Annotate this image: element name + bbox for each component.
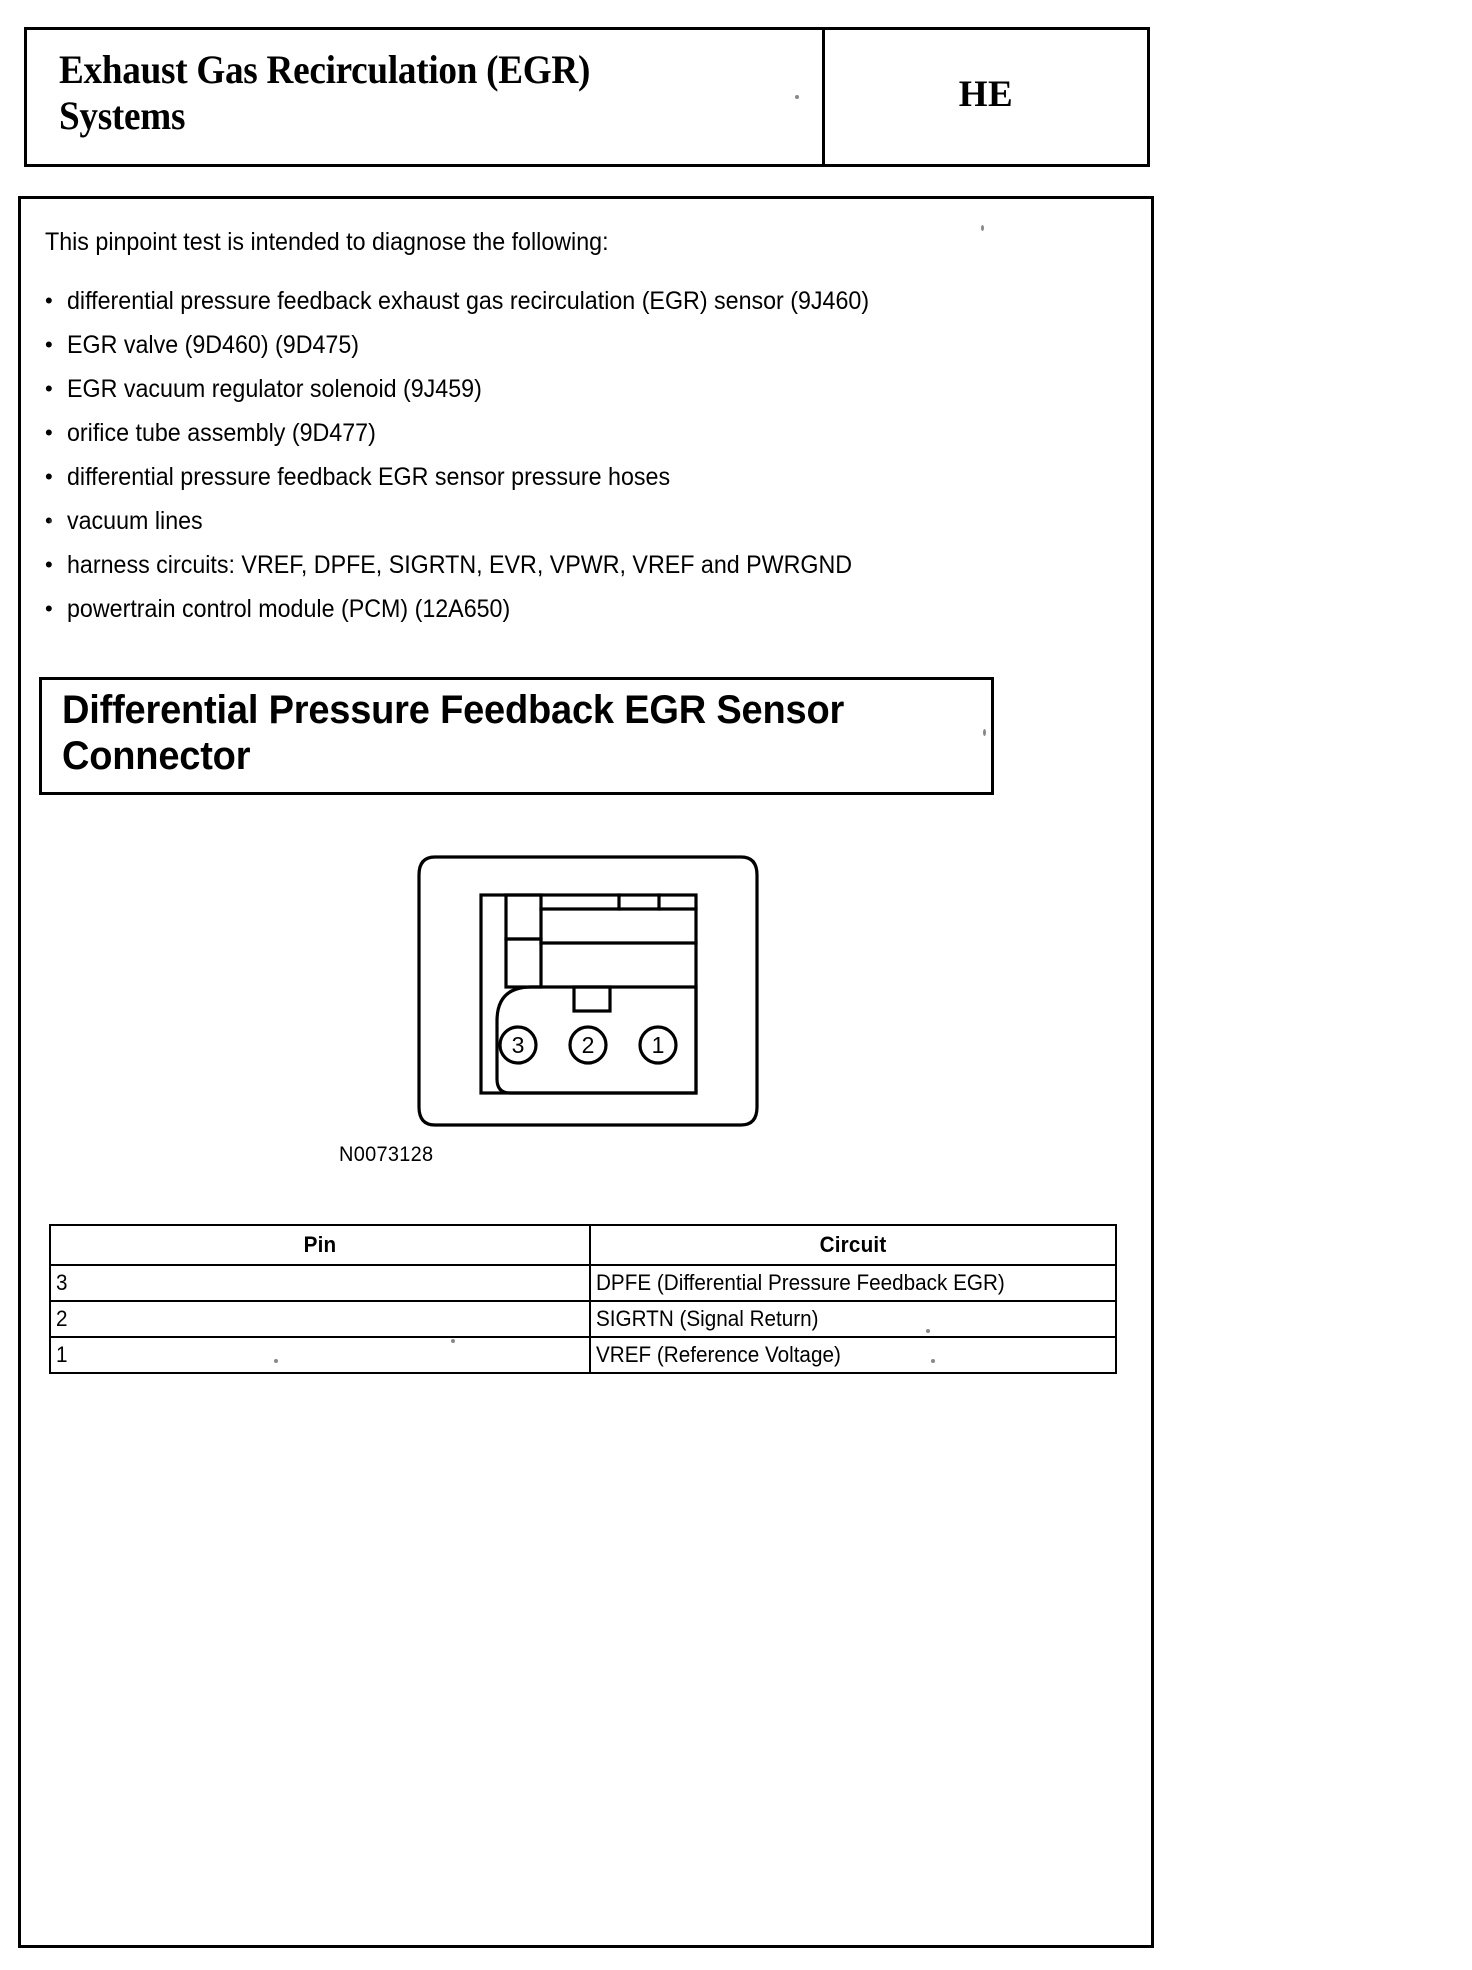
bullet-dot-icon: •: [45, 455, 67, 499]
list-item-label: powertrain control module (PCM) (12A650): [67, 587, 1051, 631]
connector-terminal-cavity: [497, 987, 696, 1093]
connector-illustration: 3 2 1: [413, 849, 763, 1139]
scan-speckle: [926, 1329, 930, 1333]
list-item-label: EGR vacuum regulator solenoid (9J459): [67, 367, 1051, 411]
list-item: • EGR vacuum regulator solenoid (9J459): [45, 367, 1125, 411]
bullet-dot-icon: •: [45, 411, 67, 455]
list-item: • powertrain control module (PCM) (12A65…: [45, 587, 1125, 631]
list-item-label: differential pressure feedback exhaust g…: [67, 279, 1051, 323]
cell-pin: 1: [50, 1337, 590, 1373]
section-heading: Differential Pressure Feedback EGR Senso…: [62, 688, 945, 779]
content-frame: This pinpoint test is intended to diagno…: [18, 196, 1154, 1948]
cell-pin-value: 1: [56, 1342, 557, 1368]
figure-part-number: N0073128: [339, 1143, 433, 1167]
scan-speckle: [795, 95, 799, 99]
cell-circuit: DPFE (Differential Pressure Feedback EGR…: [590, 1265, 1116, 1301]
intro-paragraph: This pinpoint test is intended to diagno…: [45, 227, 609, 257]
scan-speckle: [451, 1339, 455, 1343]
list-item-label: differential pressure feedback EGR senso…: [67, 455, 1051, 499]
table-header-row: Pin Circuit: [50, 1225, 1116, 1265]
bullet-dot-icon: •: [45, 543, 67, 587]
bullet-dot-icon: •: [45, 323, 67, 367]
list-item: • differential pressure feedback EGR sen…: [45, 455, 1125, 499]
list-item: • EGR valve (9D460) (9D475): [45, 323, 1125, 367]
pin-number-3: 3: [512, 1032, 525, 1058]
bullet-dot-icon: •: [45, 279, 67, 323]
column-header-pin: Pin: [50, 1225, 590, 1265]
cell-circuit-value: SIGRTN (Signal Return): [596, 1306, 1084, 1332]
bullet-dot-icon: •: [45, 587, 67, 631]
list-item-label: orifice tube assembly (9D477): [67, 411, 1051, 455]
manual-page: Exhaust Gas Recirculation (EGR) Systems …: [0, 0, 1472, 1970]
connector-latch-upper: [506, 895, 541, 939]
table-row: 1 VREF (Reference Voltage): [50, 1337, 1116, 1373]
section-heading-box: Differential Pressure Feedback EGR Senso…: [39, 677, 994, 795]
connector-key-tab: [574, 987, 610, 1011]
pin-number-2: 2: [582, 1032, 595, 1058]
list-item: • vacuum lines: [45, 499, 1125, 543]
column-header-circuit: Circuit: [590, 1225, 1116, 1265]
scan-speckle: [49, 519, 52, 523]
column-header-circuit-label: Circuit: [607, 1232, 1100, 1258]
cell-circuit: VREF (Reference Voltage): [590, 1337, 1116, 1373]
scan-speckle: [931, 1359, 935, 1363]
pin-circuit-table: Pin Circuit 3 DPFE (Differential Pressur…: [49, 1224, 1117, 1374]
connector-outer-shell: [419, 857, 757, 1125]
list-item: • orifice tube assembly (9D477): [45, 411, 1125, 455]
connector-diagram: 3 2 1 N0073128: [21, 849, 1151, 1179]
scan-speckle: [983, 729, 986, 736]
cell-pin-value: 2: [56, 1306, 557, 1332]
diagnose-bullet-list: • differential pressure feedback exhaust…: [45, 279, 1125, 631]
list-item: • differential pressure feedback exhaust…: [45, 279, 1125, 323]
page-header: Exhaust Gas Recirculation (EGR) Systems …: [24, 27, 1150, 167]
scan-speckle: [981, 225, 984, 231]
connector-latch-lower: [506, 939, 541, 987]
cell-pin-value: 3: [56, 1270, 557, 1296]
cell-pin: 3: [50, 1265, 590, 1301]
cell-pin: 2: [50, 1301, 590, 1337]
header-code-cell: HE: [825, 30, 1147, 164]
header-title-cell: Exhaust Gas Recirculation (EGR) Systems: [27, 30, 822, 164]
scan-speckle: [274, 1359, 278, 1363]
table-row: 3 DPFE (Differential Pressure Feedback E…: [50, 1265, 1116, 1301]
bullet-dot-icon: •: [45, 367, 67, 411]
list-item-label: EGR valve (9D460) (9D475): [67, 323, 1051, 367]
column-header-pin-label: Pin: [67, 1232, 573, 1258]
table-row: 2 SIGRTN (Signal Return): [50, 1301, 1116, 1337]
list-item-label: harness circuits: VREF, DPFE, SIGRTN, EV…: [67, 543, 1051, 587]
list-item: • harness circuits: VREF, DPFE, SIGRTN, …: [45, 543, 1125, 587]
list-item-label: vacuum lines: [67, 499, 1051, 543]
pin-number-1: 1: [652, 1032, 665, 1058]
cell-circuit-value: DPFE (Differential Pressure Feedback EGR…: [596, 1270, 1084, 1296]
cell-circuit: SIGRTN (Signal Return): [590, 1301, 1116, 1337]
cell-circuit-value: VREF (Reference Voltage): [596, 1342, 1084, 1368]
section-code-badge: HE: [959, 73, 1013, 116]
page-title: Exhaust Gas Recirculation (EGR) Systems: [59, 47, 769, 138]
